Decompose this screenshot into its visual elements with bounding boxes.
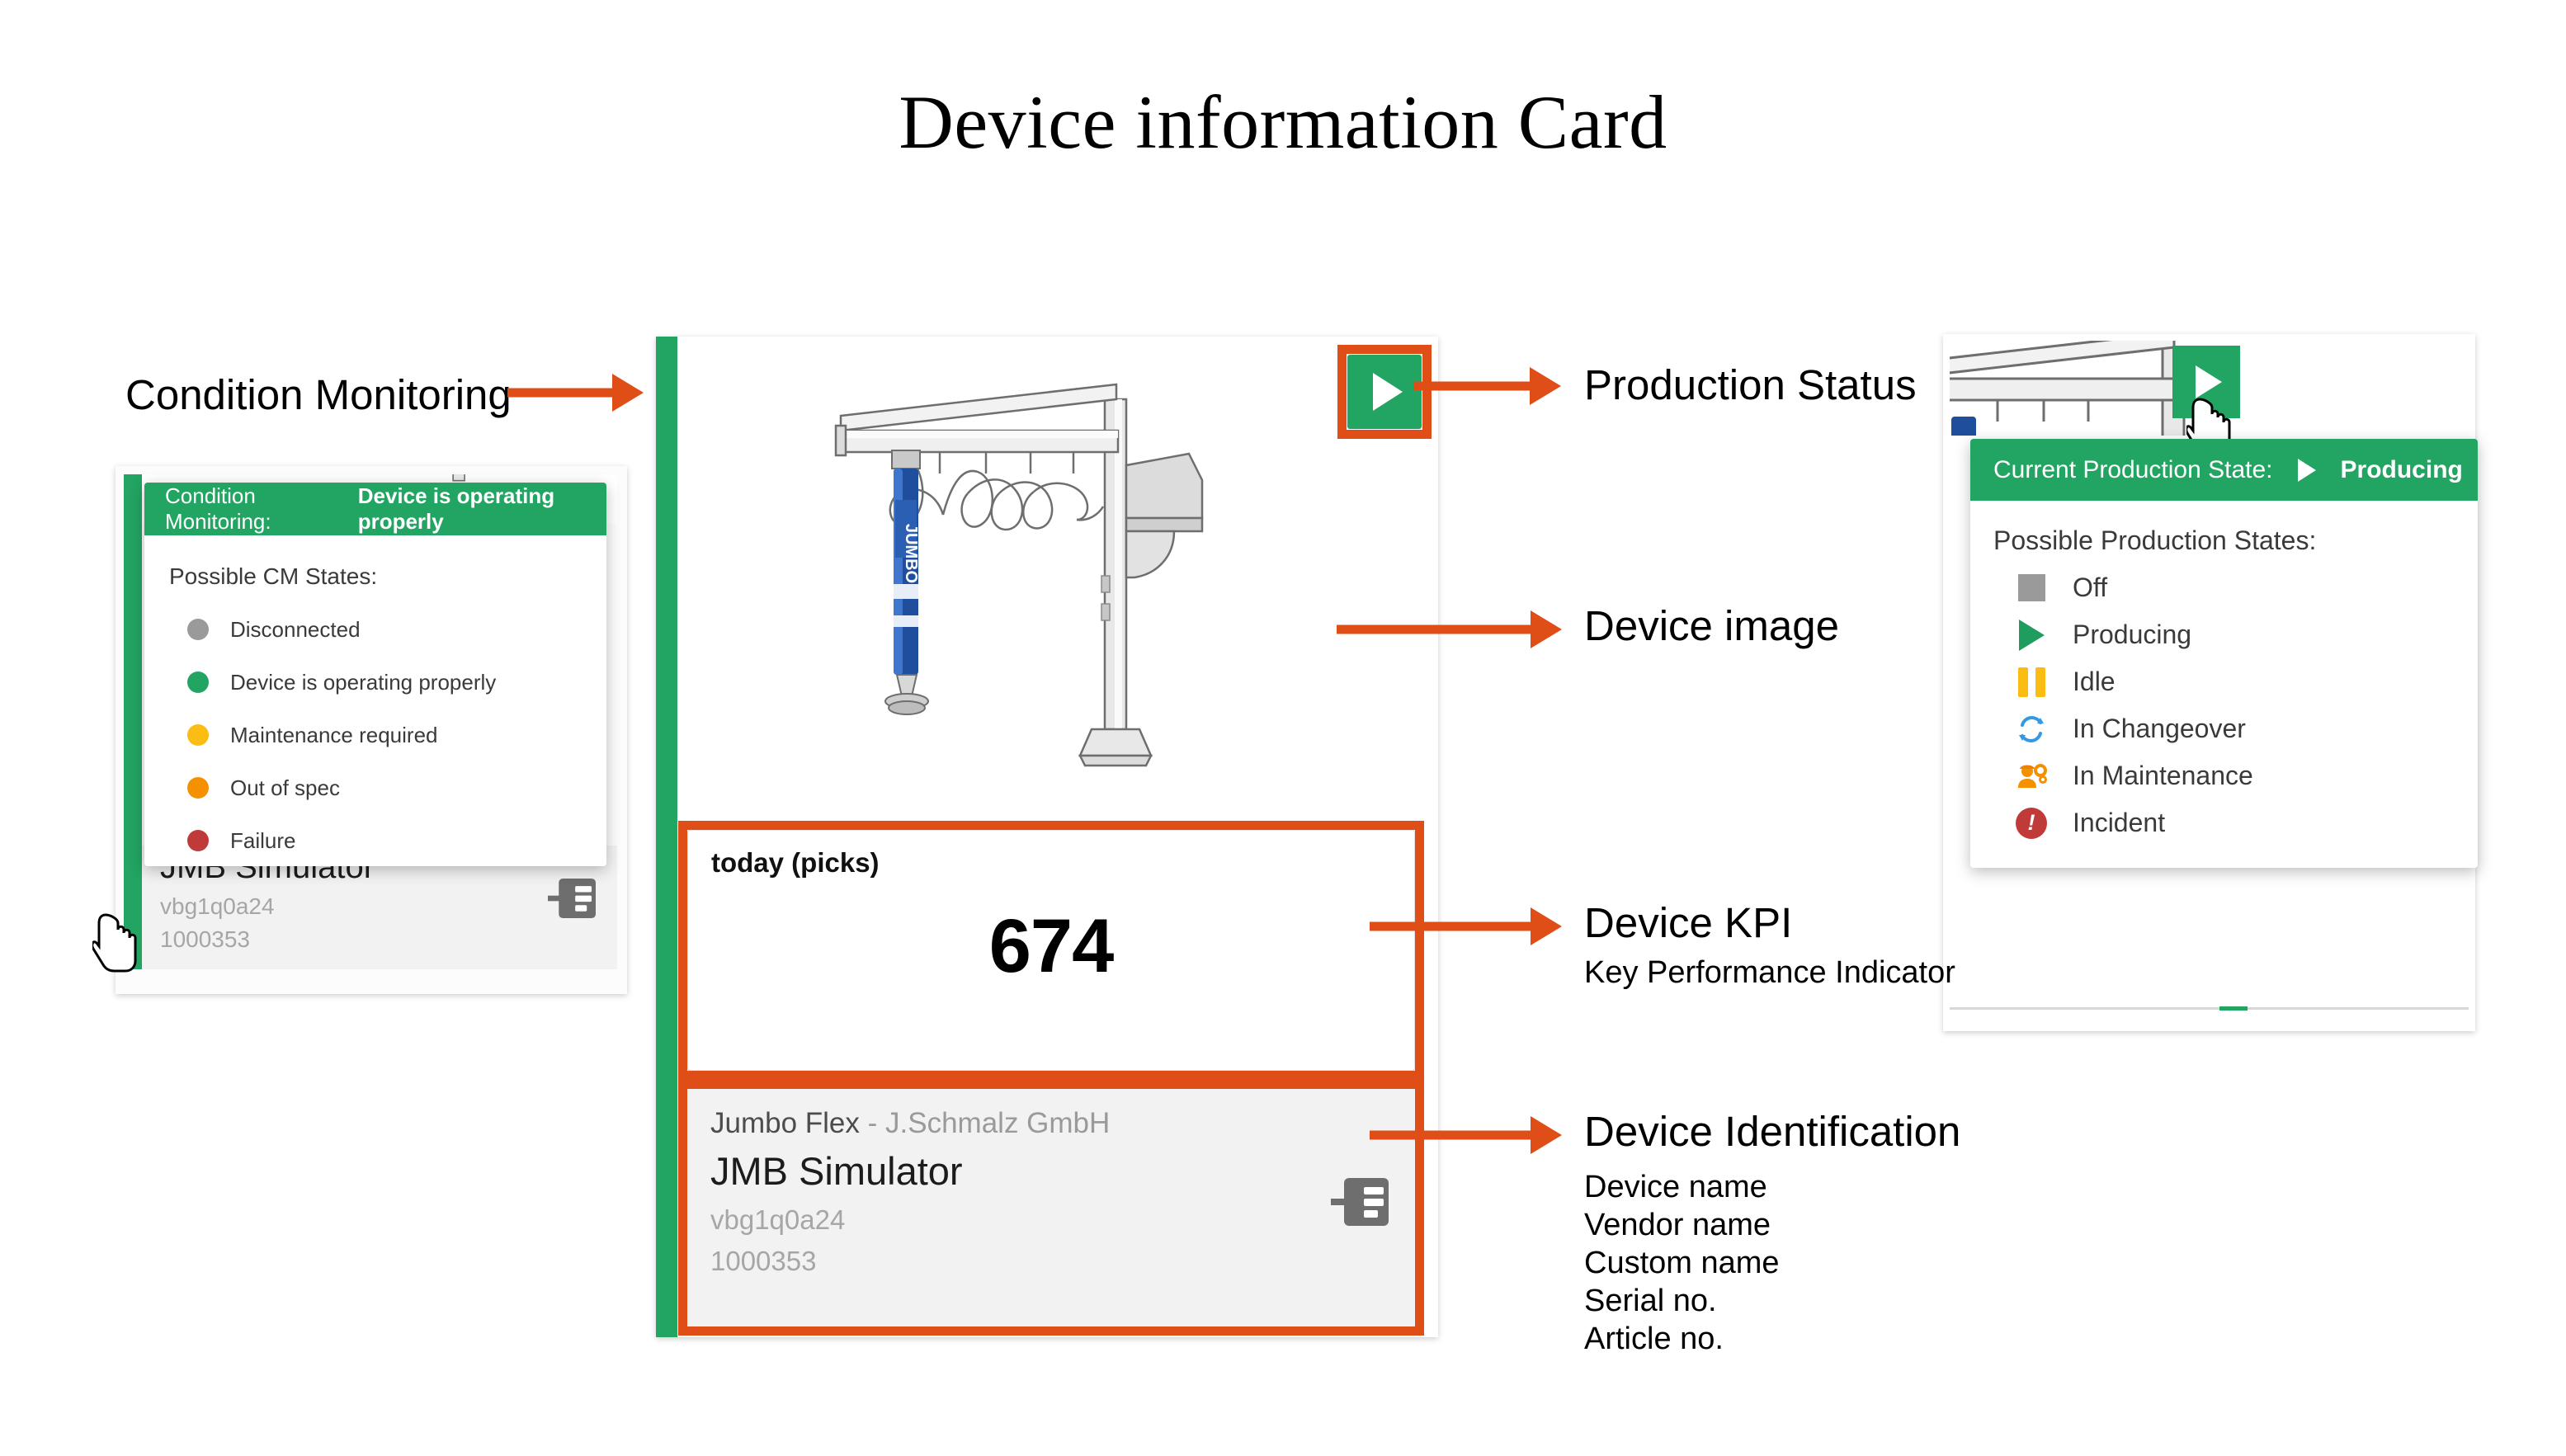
device-image: JUMBO (801, 368, 1263, 805)
cm-header-label: Condition Monitoring: (165, 483, 340, 535)
divider-accent-segment (2219, 1006, 2248, 1011)
mouse-cursor-left (92, 912, 139, 973)
ps-state-row: Producing (1993, 611, 2478, 658)
kpi-label: today (picks) (711, 847, 880, 879)
play-icon (2298, 459, 2316, 482)
ps-state-row: In Changeover (1993, 705, 2478, 752)
arrow-to-device-kpi (1370, 907, 1564, 945)
condition-monitoring-status-bar[interactable] (656, 337, 677, 1337)
annotation-device-kpi: Device KPI (1584, 901, 1792, 945)
condition-monitoring-status-bar-left[interactable] (124, 474, 142, 969)
cm-state-row: Device is operating properly (169, 656, 606, 709)
annotation-device-kpi-sub: Key Performance Indicator (1584, 953, 1955, 993)
annotation-device-identification: Device Identification (1584, 1110, 1960, 1154)
card-bottom-divider (1950, 1007, 2469, 1010)
identification-field-custom-name: Custom name (1584, 1243, 1780, 1284)
arrow-to-device-image (1337, 610, 1564, 648)
identification-field-device-name: Device name (1584, 1167, 1767, 1208)
device-vendor-line: Jumbo Flex - J.Schmalz GmbH (710, 1107, 1110, 1140)
arrow-to-condition-monitoring (507, 374, 644, 412)
ps-state-row: ! Incident (1993, 799, 2478, 846)
ps-subtitle: Possible Production States: (1993, 525, 2478, 556)
cm-state-label: Failure (230, 828, 295, 854)
device-kpi-tile[interactable]: today (picks) 674 (687, 830, 1415, 1071)
ps-header-value: Producing (2341, 456, 2463, 484)
identification-field-vendor-name: Vendor name (1584, 1205, 1771, 1246)
article-no-left: 1000353 (160, 926, 250, 953)
play-icon (1373, 373, 1403, 411)
cm-state-row: Disconnected (169, 603, 606, 656)
status-dot-icon (187, 724, 209, 746)
ps-header-label: Current Production State: (1993, 456, 2273, 484)
device-identification-tile[interactable]: Jumbo Flex - J.Schmalz GmbH JMB Simulato… (687, 1089, 1415, 1326)
article-no: 1000353 (710, 1246, 816, 1277)
cm-state-label: Disconnected (230, 617, 361, 643)
ps-state-label: Off (2073, 573, 2107, 603)
ps-state-label: Idle (2073, 667, 2116, 697)
refresh-cycle-icon (2015, 713, 2048, 746)
ps-state-row: Idle (1993, 658, 2478, 705)
annotation-production-status: Production Status (1584, 363, 1917, 408)
cm-subtitle: Possible CM States: (169, 563, 606, 590)
play-icon (2196, 365, 2222, 398)
pause-icon (2015, 666, 2048, 699)
cm-state-label: Out of spec (230, 775, 340, 801)
svg-text:JUMBO: JUMBO (902, 524, 920, 583)
name-separator: - (860, 1107, 885, 1139)
arrow-to-device-identification (1370, 1116, 1564, 1154)
serial-no: vbg1q0a24 (710, 1204, 845, 1236)
device-name: Jumbo Flex (710, 1107, 860, 1139)
production-state-popup: Current Production State: Producing Poss… (1970, 439, 2478, 868)
arrow-to-production-status (1413, 367, 1562, 405)
ps-state-label: In Changeover (2073, 714, 2246, 744)
identification-field-serial-no: Serial no. (1584, 1281, 1717, 1322)
device-details-icon-left[interactable] (548, 877, 596, 920)
device-image-right (1950, 341, 2321, 436)
annotation-device-image: Device image (1584, 604, 1839, 648)
status-dot-icon (187, 777, 209, 799)
production-status-play-button[interactable] (1347, 355, 1422, 429)
page-title: Device information Card (0, 78, 2566, 166)
ps-state-label: Incident (2073, 808, 2165, 838)
condition-monitoring-popup-body: Possible CM States: Disconnected Device … (144, 535, 606, 866)
cm-state-row: Maintenance required (169, 709, 606, 761)
device-information-card[interactable]: JUMBO (656, 337, 1438, 1337)
production-state-popup-body: Possible Production States: Off Producin… (1970, 501, 2478, 868)
annotation-condition-monitoring: Condition Monitoring (125, 373, 512, 417)
identification-field-article-no: Article no. (1584, 1319, 1724, 1359)
production-state-popup-header: Current Production State: Producing (1970, 439, 2478, 501)
kpi-value: 674 (688, 903, 1414, 990)
device-details-icon[interactable] (1331, 1176, 1389, 1227)
play-icon (2015, 619, 2048, 652)
status-dot-icon (187, 671, 209, 693)
slide-canvas: Device information Card (0, 0, 2566, 1456)
worker-gear-icon (2015, 760, 2048, 793)
ps-state-label: Producing (2073, 620, 2191, 650)
status-dot-icon (187, 619, 209, 640)
alert-circle-icon: ! (2015, 807, 2048, 840)
cm-state-row: Out of spec (169, 761, 606, 814)
custom-name: JMB Simulator (710, 1148, 963, 1194)
status-dot-icon (187, 830, 209, 851)
condition-monitoring-popup-header: Condition Monitoring: Device is operatin… (144, 483, 606, 535)
ps-state-row: Off (1993, 564, 2478, 611)
serial-no-left: vbg1q0a24 (160, 893, 275, 920)
ps-state-row: In Maintenance (1993, 752, 2478, 799)
device-image-area: JUMBO (677, 337, 1438, 815)
cm-state-row: Failure (169, 814, 606, 866)
vendor-name: J.Schmalz GmbH (885, 1107, 1110, 1139)
square-icon (2015, 572, 2048, 605)
ps-state-label: In Maintenance (2073, 761, 2253, 791)
cm-header-value: Device is operating properly (358, 483, 606, 535)
cm-state-label: Maintenance required (230, 723, 438, 748)
cm-state-label: Device is operating properly (230, 670, 496, 695)
condition-monitoring-popup: Condition Monitoring: Device is operatin… (144, 483, 606, 866)
